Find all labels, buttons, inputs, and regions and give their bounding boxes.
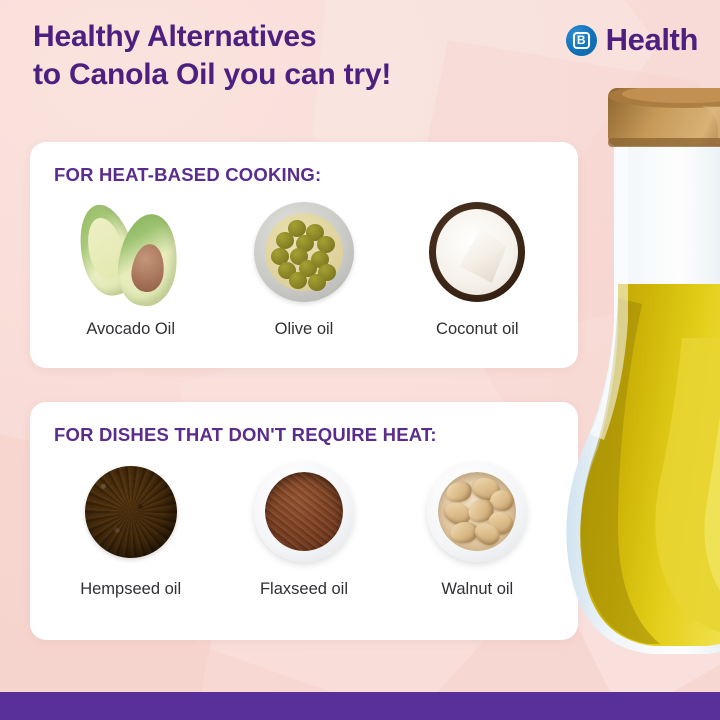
olive: [289, 272, 307, 289]
olive-bowl-dish: [254, 202, 354, 302]
olive: [276, 232, 294, 249]
page-title: Healthy Alternatives to Canola Oil you c…: [33, 18, 503, 95]
flaxseed-bowl-inner: [265, 472, 343, 551]
hempseed-mound: [85, 466, 177, 558]
list-item: Walnut oil: [391, 458, 564, 599]
item-label: Avocado Oil: [86, 320, 175, 339]
headline-line-2: to Canola Oil you can try!: [33, 56, 503, 94]
card-2-title: FOR DISHES THAT DON'T REQUIRE HEAT:: [54, 424, 437, 446]
avocado-halves-image: [77, 198, 185, 306]
card-2-items: Hempseed oil Flaxseed oil: [44, 458, 564, 599]
coconut-half-image: [423, 198, 531, 306]
brand-glyph-letter: B: [573, 32, 590, 49]
olive: [308, 274, 326, 291]
coconut-shell: [429, 202, 525, 302]
item-label: Flaxseed oil: [260, 580, 348, 599]
list-item: Olive oil: [217, 198, 390, 339]
item-label: Hempseed oil: [80, 580, 181, 599]
heat-based-cooking-card: FOR HEAT-BASED COOKING: Avocado Oil: [30, 142, 578, 368]
headline-line-1: Healthy Alternatives: [33, 20, 316, 53]
walnut-bowl-image: [423, 458, 531, 566]
olive-bowl-image: [250, 198, 358, 306]
coconut-flesh-chunk: [454, 227, 506, 283]
item-label: Walnut oil: [441, 580, 513, 599]
item-label: Coconut oil: [436, 320, 519, 339]
flaxseed-fill: [265, 472, 343, 551]
brand-name-label: Health: [606, 22, 698, 58]
list-item: Avocado Oil: [44, 198, 217, 339]
walnut-bowl-inner: [438, 472, 516, 551]
footer-bar: [0, 692, 720, 720]
infographic-poster: Healthy Alternatives to Canola Oil you c…: [0, 0, 720, 720]
flaxseed-bowl-image: [250, 458, 358, 566]
card-1-title: FOR HEAT-BASED COOKING:: [54, 164, 321, 186]
no-heat-dishes-card: FOR DISHES THAT DON'T REQUIRE HEAT: Hemp…: [30, 402, 578, 640]
brand-logo: B Health: [566, 22, 698, 58]
bajaj-b-icon: B: [566, 25, 597, 56]
item-label: Olive oil: [275, 320, 334, 339]
flaxseed-bowl: [254, 462, 354, 562]
list-item: Coconut oil: [391, 198, 564, 339]
walnut-bowl: [427, 462, 527, 562]
list-item: Flaxseed oil: [217, 458, 390, 599]
card-1-items: Avocado Oil: [44, 198, 564, 339]
list-item: Hempseed oil: [44, 458, 217, 599]
hempseed-pile-image: [77, 458, 185, 566]
